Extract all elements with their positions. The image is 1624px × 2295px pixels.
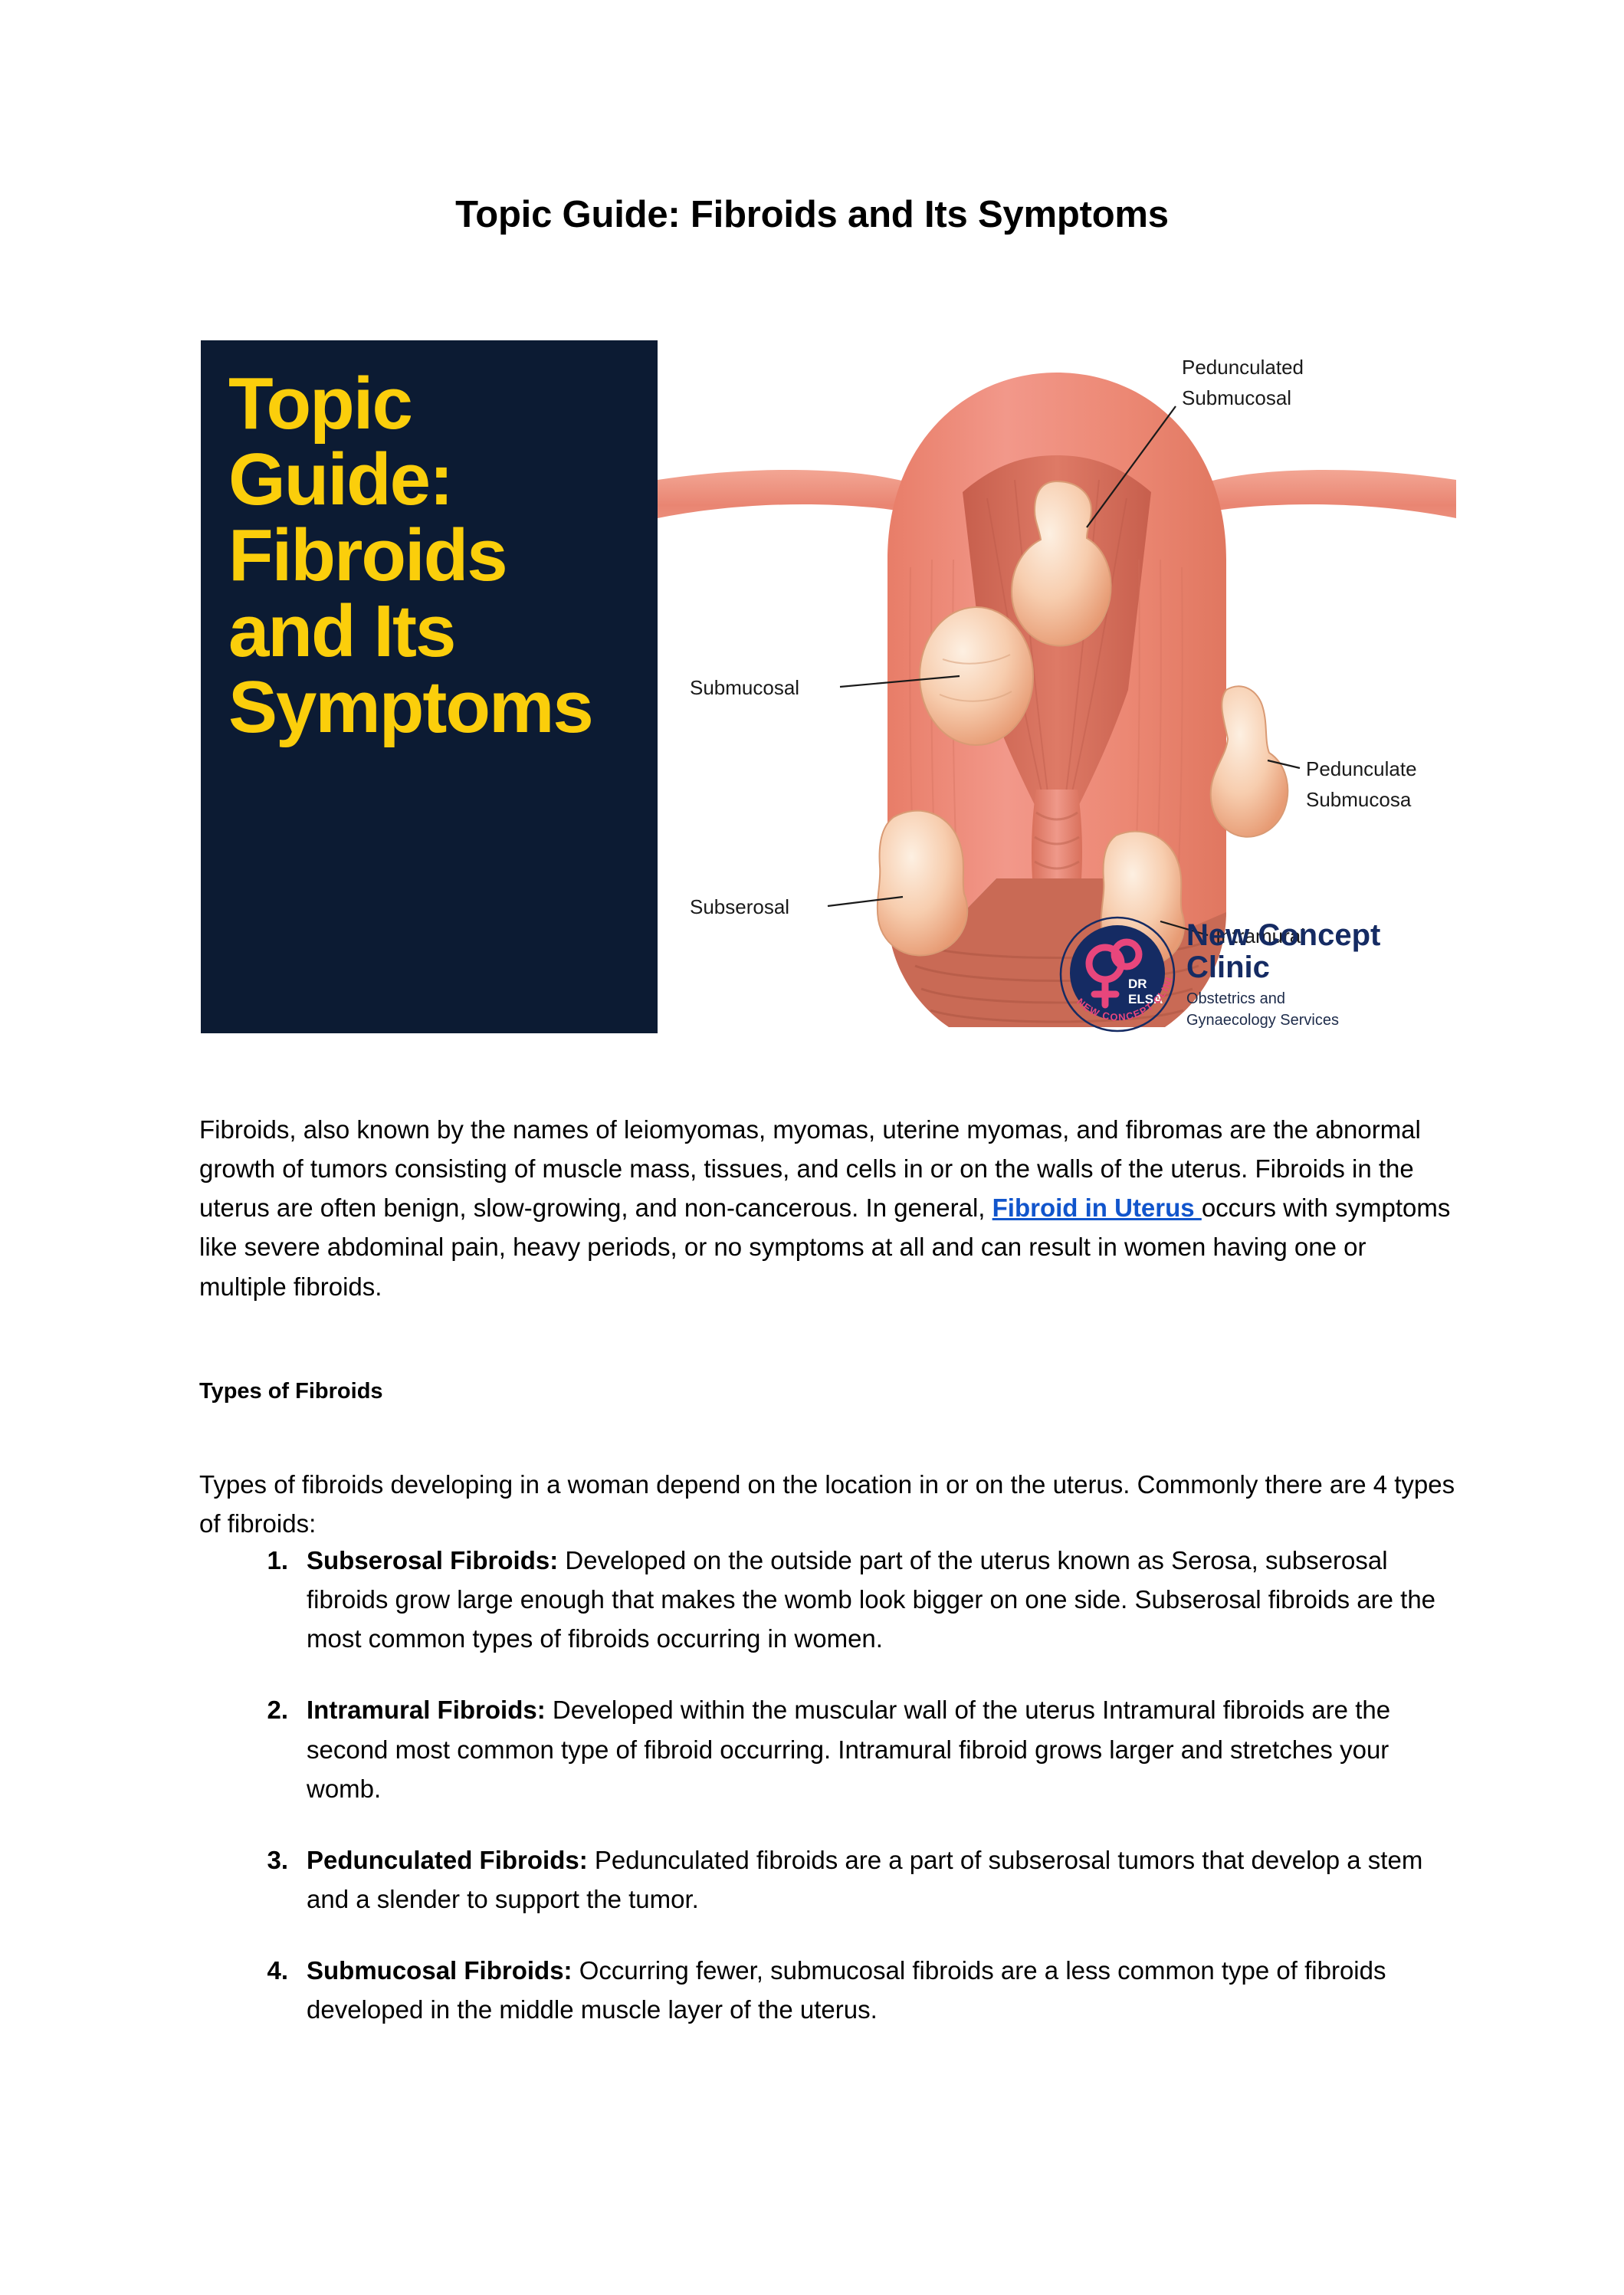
list-item-term: Submucosal Fibroids: [307,1956,573,1985]
hero-navy-panel [201,340,658,1033]
types-intro-paragraph: Types of fibroids developing in a woman … [199,1465,1459,1543]
label-submucosal: Submucosal [690,676,799,699]
fibroid-types-list: 1.Subserosal Fibroids: Developed on the … [199,1541,1459,2061]
document-page: Topic Guide: Fibroids and Its Symptoms T… [0,0,1624,2295]
list-item-number: 3. [251,1840,288,1880]
list-item: 1.Subserosal Fibroids: Developed on the … [199,1541,1459,1658]
list-item-term: Subserosal Fibroids: [307,1546,558,1574]
logo-tagline-line2: Gynaecology Services [1186,1012,1339,1029]
label-subserosal: Subserosal [690,895,789,918]
list-item-number: 1. [251,1541,288,1580]
list-item: 3.Pedunculated Fibroids: Pedunculated fi… [199,1840,1459,1919]
logo-name-line1: New Concept [1186,918,1380,952]
logo-initials-line1: DR [1128,977,1147,991]
label-pedunculated-submucosal-line2: Submucosal [1182,386,1291,409]
list-item-number: 4. [251,1951,288,1990]
logo-name-line2: Clinic [1186,951,1270,984]
list-item: 2.Intramural Fibroids: Developed within … [199,1690,1459,1807]
fibroid-subserosal [878,811,967,956]
logo-tagline-line1: Obstetrics and [1186,990,1285,1007]
list-item-term: Pedunculated Fibroids: [307,1846,588,1874]
clinic-logo: DR ELSA NEW CONCEPT CLINIC New Concept C… [1058,908,1464,1042]
intro-paragraph: Fibroids, also known by the names of lei… [199,1110,1459,1306]
label-pedunculated-submucosal-line1: Pedunculated [1182,356,1304,379]
fibroid-submucosal [920,607,1033,745]
label-pedunculate-submucosa-line1: Pedunculate [1306,757,1417,780]
page-title: Topic Guide: Fibroids and Its Symptoms [0,193,1624,236]
fibroid-in-uterus-link[interactable]: Fibroid in Uterus [992,1193,1202,1222]
list-item-number: 2. [251,1690,288,1729]
list-item: 4.Submucosal Fibroids: Occurring fewer, … [199,1951,1459,2029]
section-heading-types-of-fibroids: Types of Fibroids [199,1379,1459,1404]
list-item-term: Intramural Fibroids: [307,1696,546,1724]
label-pedunculate-submucosa-line2: Submucosa [1306,788,1412,811]
hero-image: Topic Guide: Fibroids and Its Symptoms [199,330,1456,1042]
